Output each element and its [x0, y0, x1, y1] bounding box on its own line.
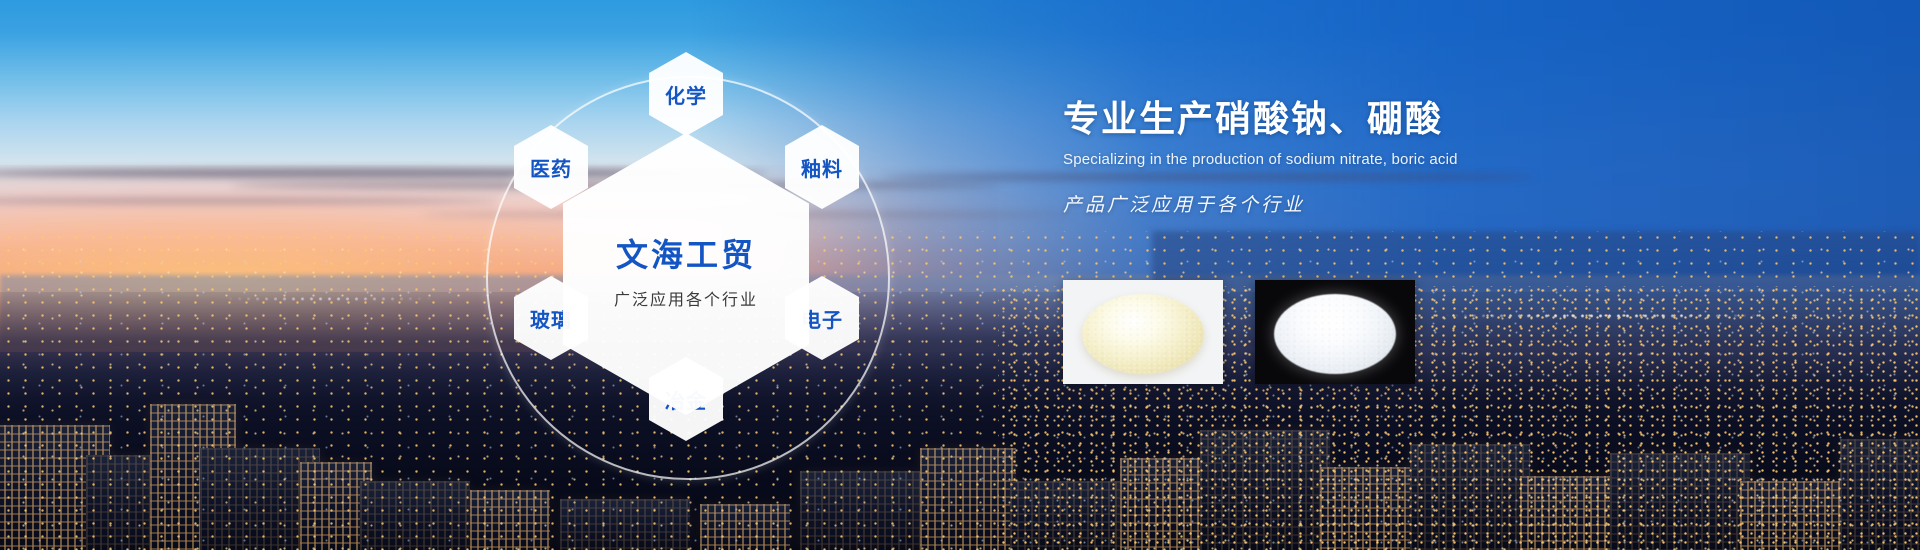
product-photo-group: [1063, 280, 1415, 384]
product-photo-sodium-nitrate[interactable]: [1063, 280, 1223, 384]
bridge-lights: [1344, 303, 1862, 329]
headline-text: 专业生产硝酸钠、硼酸: [1063, 96, 1763, 141]
headline-english: Specializing in the production of sodium…: [1063, 151, 1763, 168]
company-name: 文海工贸: [616, 238, 756, 273]
headline-block: 专业生产硝酸钠、硼酸 Specializing in the productio…: [1063, 96, 1763, 217]
company-tagline: 广泛应用各个行业: [614, 286, 758, 310]
hex-node-label: 医药: [530, 153, 572, 182]
promo-banner: 化学 釉料 电子 冶金 玻璃 医药 文海工贸 广泛应用各个行业 专业生产硝酸钠、…: [0, 0, 1920, 550]
powder-heap-image: [1082, 294, 1204, 374]
powder-heap-image: [1274, 294, 1396, 374]
industry-hex-diagram: 化学 釉料 电子 冶金 玻璃 医药 文海工贸 广泛应用各个行业: [430, 20, 950, 540]
hex-node-label: 釉料: [801, 153, 843, 182]
headline-tagline: 产品广泛应用于各个行业: [1063, 190, 1763, 217]
product-photo-boric-acid[interactable]: [1255, 280, 1415, 384]
hex-node-label: 化学: [665, 80, 707, 109]
